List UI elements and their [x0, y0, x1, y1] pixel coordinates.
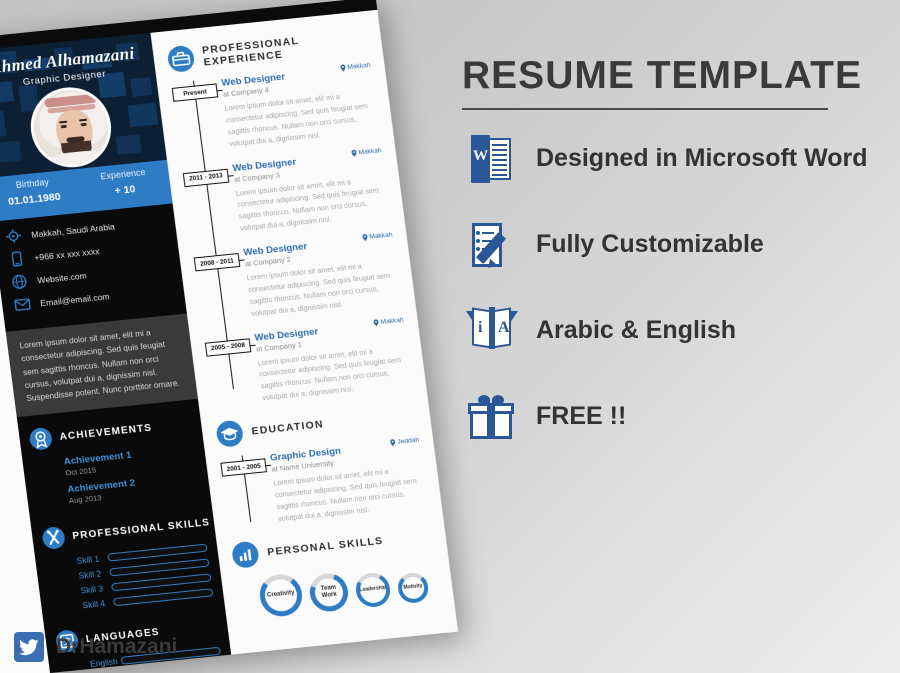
contact-text: Makkah, Saudi Arabia — [31, 221, 116, 239]
skill-label: Skill 2 — [78, 568, 110, 581]
section-title: PROFESSIONAL EXPERIENCE — [201, 28, 370, 69]
promo-panel: RESUME TEMPLATE W Designed in Microsoft … — [462, 56, 882, 454]
job-date: 2005 - 2008 — [205, 338, 252, 356]
experience-item: 2005 - 2008 Makkah Web Designer at Compa… — [254, 317, 415, 404]
job-description: Lorem ipsum dolor sit amet, elit mi a co… — [257, 342, 414, 404]
location-pin-icon — [351, 149, 357, 156]
feature-customizable: Fully Customizable — [462, 208, 882, 282]
feature-free: FREE !! — [462, 380, 882, 454]
phone-icon — [8, 251, 27, 268]
job-date: 2008 - 2011 — [194, 253, 241, 271]
personal-skill-label: Team Work — [313, 577, 344, 608]
location-pin-icon — [340, 64, 346, 71]
word-icon: W — [462, 131, 518, 187]
personal-skill-label: Motivity — [401, 575, 426, 599]
section-title: PROFESSIONAL SKILLS — [72, 517, 211, 542]
skill-label: Skill 4 — [82, 598, 114, 611]
experience-item: 2011 - 2013 Makkah Web Designer at Compa… — [232, 147, 393, 234]
section-title: EDUCATION — [251, 418, 325, 437]
page-title: RESUME TEMPLATE — [462, 56, 882, 97]
experience-timeline: Present Makkah Web Designer at Company 4… — [175, 63, 414, 409]
location-icon — [5, 228, 24, 245]
tools-icon — [41, 526, 66, 550]
skill-label: Skill 1 — [76, 553, 108, 566]
education-item: 2001 - 2005 Jeddah Graphic Design at Nam… — [270, 437, 431, 524]
personal-skill-label: Leadership — [358, 575, 387, 603]
contact-text: +966 xx xxx xxxx — [34, 246, 100, 263]
education-timeline: 2001 - 2005 Jeddah Graphic Design at Nam… — [224, 437, 430, 529]
stat-experience: Experience + 10 — [77, 165, 171, 201]
education-description: Lorem ipsum dolor sit amet, elit mi a co… — [273, 462, 430, 524]
envelope-icon — [13, 296, 32, 313]
graduation-cap-icon — [215, 420, 244, 448]
pencil-document-icon — [462, 217, 518, 273]
contact-text: Email@email.com — [40, 291, 110, 308]
job-description: Lorem ipsum dolor sit amet, elit mi a co… — [224, 87, 381, 149]
location-pin-icon — [390, 439, 396, 446]
job-description: Lorem ipsum dolor sit amet, elit mi a co… — [246, 257, 403, 319]
stat-value: 01.01.1980 — [0, 189, 80, 210]
globe-icon — [10, 273, 29, 290]
language-book-icon: i A — [462, 303, 518, 359]
experience-item: Present Makkah Web Designer at Company 4… — [221, 63, 382, 150]
feature-label: Fully Customizable — [536, 230, 764, 259]
personal-skill-item: Leadership — [354, 571, 392, 608]
resume-page: Ahmed Alhamazani Graphic Designer Birthd… — [0, 0, 458, 673]
personal-skill-item: Creativity — [257, 572, 304, 618]
education-date: 2001 - 2005 — [220, 458, 267, 476]
twitter-icon[interactable] — [14, 632, 44, 662]
handle-text: DrHamazani — [56, 635, 177, 659]
personal-skill-label: Creativity — [263, 577, 299, 612]
title-divider — [462, 108, 828, 110]
job-date: 2011 - 2013 — [183, 168, 230, 186]
contact-text: Website.com — [37, 270, 88, 285]
location-pin-icon — [362, 234, 368, 241]
section-title: ACHIEVEMENTS — [59, 423, 153, 443]
contact-list: Makkah, Saudi Arabia +966 xx xxx xxxx We… — [0, 203, 187, 331]
feature-label: FREE !! — [536, 402, 626, 431]
achievements-section: ACHIEVEMENTS Achievement 1 Oct 2015 Achi… — [17, 399, 210, 510]
skill-label: Skill 3 — [80, 583, 112, 596]
location-pin-icon — [373, 319, 379, 326]
feature-word: W Designed in Microsoft Word — [462, 122, 882, 196]
personal-skill-circles: Creativity Team Work Leadership Motivity — [257, 558, 442, 618]
stat-value: + 10 — [79, 180, 171, 201]
personal-skill-item: Motivity — [396, 571, 430, 604]
job-date: Present — [172, 83, 219, 101]
feature-label: Designed in Microsoft Word — [536, 144, 868, 173]
briefcase-icon — [166, 45, 195, 73]
social-handle[interactable]: DrHamazani — [14, 632, 177, 662]
professional-skills-section: PROFESSIONAL SKILLS Skill 1 Skill 2 Skil… — [30, 498, 224, 615]
job-description: Lorem ipsum dolor sit amet, elit mi a co… — [235, 172, 392, 234]
stat-birthday: Birthday 01.01.1980 — [0, 174, 80, 210]
feature-languages: i A Arabic & English — [462, 294, 882, 368]
gift-icon — [462, 389, 518, 445]
skill-bars: Skill 1 Skill 2 Skill 3 Skill 4 — [76, 542, 223, 611]
personal-skill-item: Team Work — [308, 571, 351, 613]
section-title: PERSONAL SKILLS — [266, 534, 383, 558]
chart-icon — [231, 540, 260, 568]
feature-label: Arabic & English — [536, 316, 736, 345]
experience-item: 2008 - 2011 Makkah Web Designer at Compa… — [243, 232, 404, 319]
profile-header: Ahmed Alhamazani Graphic Designer — [0, 33, 167, 178]
ribbon-icon — [28, 427, 53, 451]
resume-document: Ahmed Alhamazani Graphic Designer Birthd… — [0, 0, 458, 673]
